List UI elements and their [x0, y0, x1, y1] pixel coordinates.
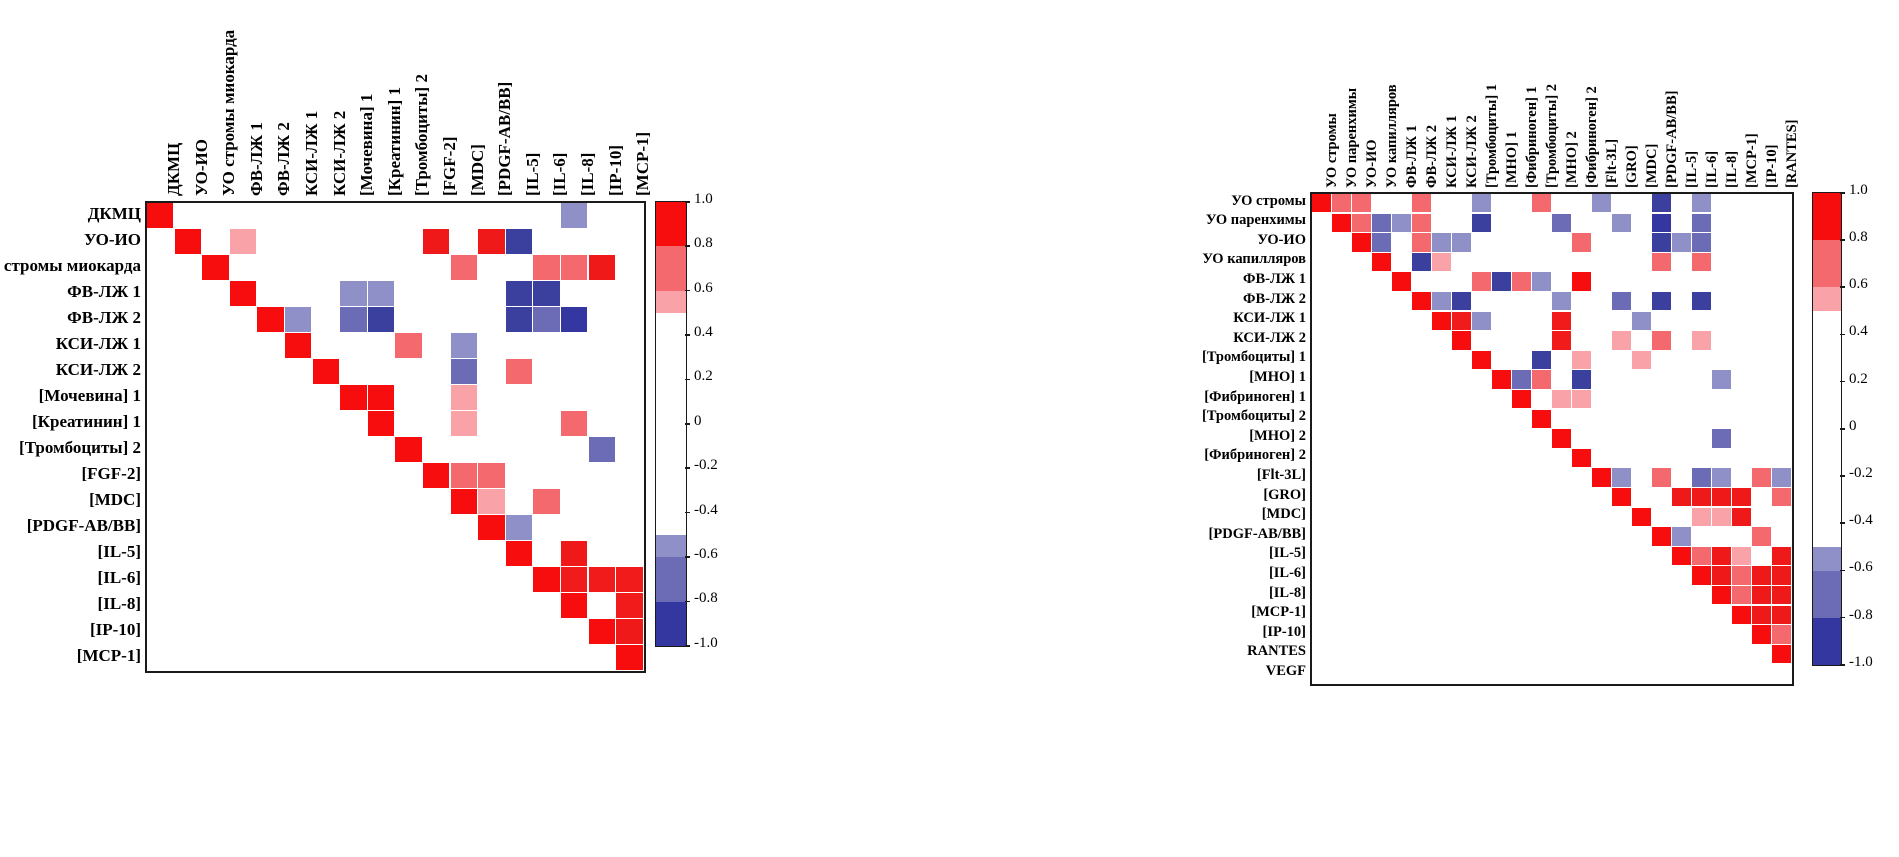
left-column-labels: ДКМЦУО-ИОУО стромы миокардаФВ-ЛЖ 1ФВ-ЛЖ … [145, 0, 642, 196]
heatmap-cell [1392, 272, 1411, 290]
column-label: [IL-8] [579, 0, 596, 196]
heatmap-cell [1412, 233, 1431, 251]
heatmap-cell [1692, 214, 1711, 232]
column-label: ФВ-ЛЖ 1 [1405, 0, 1420, 188]
heatmap-cell [1692, 253, 1711, 271]
column-label: УО-ИО [193, 0, 210, 196]
column-label: [Тромбоциты] 1 [1485, 0, 1500, 188]
heatmap-cell [506, 229, 532, 254]
heatmap-cell [451, 385, 477, 410]
heatmap-cell [1732, 488, 1751, 506]
heatmap-cell [478, 489, 504, 514]
heatmap-cell [285, 333, 311, 358]
colorbar-tick-mark [685, 290, 690, 292]
colorbar-tick-mark [1840, 570, 1845, 572]
heatmap-cell [1672, 527, 1691, 545]
heatmap-cell [1552, 429, 1571, 447]
column-label: ФВ-ЛЖ 2 [1425, 0, 1440, 188]
colorbar-tick-mark [685, 334, 690, 336]
heatmap-cell [616, 567, 642, 592]
heatmap-cell [1432, 312, 1451, 330]
heatmap-cell [561, 411, 587, 436]
heatmap-cell [1492, 272, 1511, 290]
row-label: [Фибриноген] 2 [886, 448, 1306, 463]
heatmap-cell [1712, 508, 1731, 526]
column-label: [GRO] [1625, 0, 1640, 188]
column-label: [IL-6] [551, 0, 568, 196]
heatmap-cell [1372, 253, 1391, 271]
heatmap-cell [423, 229, 449, 254]
heatmap-cell [1432, 253, 1451, 271]
heatmap-cell [1392, 214, 1411, 232]
heatmap-cell [478, 515, 504, 540]
heatmap-cell [1552, 292, 1571, 310]
heatmap-cell [285, 307, 311, 332]
heatmap-cell [1632, 312, 1651, 330]
heatmap-cell [1532, 410, 1551, 428]
colorbar-tick-label: -0.4 [1849, 513, 1873, 528]
heatmap-cell [1472, 272, 1491, 290]
column-label: [Фибриноген] 1 [1525, 0, 1540, 188]
heatmap-cell [1652, 194, 1671, 212]
heatmap-cell [1372, 233, 1391, 251]
heatmap-cell [616, 593, 642, 618]
heatmap-cell [1512, 272, 1531, 290]
colorbar-tick-mark [685, 379, 690, 381]
heatmap-cell [616, 645, 642, 670]
column-label: ФВ-ЛЖ 2 [275, 0, 292, 196]
heatmap-cell [506, 541, 532, 566]
colorbar-tick-mark [1840, 617, 1845, 619]
colorbar-tick-label: 0.4 [694, 325, 713, 340]
heatmap-cell [1432, 292, 1451, 310]
heatmap-cell [1692, 194, 1711, 212]
row-label: [MDC] [886, 507, 1306, 522]
colorbar-segment [656, 535, 686, 557]
heatmap-cell [1532, 351, 1551, 369]
right-colorbar [1812, 192, 1842, 666]
heatmap-cell [257, 307, 283, 332]
heatmap-cell [1692, 566, 1711, 584]
heatmap-cell [368, 411, 394, 436]
right-column-labels: УО стромыУО паренхимыУО-ИОУО капилляровФ… [1310, 0, 1790, 188]
heatmap-cell [1752, 566, 1771, 584]
heatmap-cell [1692, 331, 1711, 349]
colorbar-segment [656, 291, 686, 313]
heatmap-cell [561, 255, 587, 280]
heatmap-cell [1652, 468, 1671, 486]
heatmap-cell [1372, 214, 1391, 232]
colorbar-tick-mark [1840, 239, 1845, 241]
heatmap-cell [589, 437, 615, 462]
heatmap-cell [1452, 233, 1471, 251]
heatmap-cell [1692, 508, 1711, 526]
column-label: [MDC] [469, 0, 486, 196]
heatmap-cell [1712, 488, 1731, 506]
heatmap-cell [1552, 214, 1571, 232]
row-label: [MCP-1] [886, 605, 1306, 620]
row-label: [Тромбоциты] 2 [886, 409, 1306, 424]
colorbar-tick-mark [685, 512, 690, 514]
row-label: [IL-8] [0, 595, 141, 612]
row-label: УО-ИО [0, 231, 141, 248]
row-label: [МНО] 2 [886, 429, 1306, 444]
column-label: КСИ-ЛЖ 1 [1445, 0, 1460, 188]
column-label: УО паренхимы [1345, 0, 1360, 188]
heatmap-cell [340, 307, 366, 332]
column-label: [PDGF-AB/BB] [1665, 0, 1680, 188]
column-label: ДКМЦ [165, 0, 182, 196]
column-label: [MCP-1] [1745, 0, 1760, 188]
colorbar-tick-mark [685, 601, 690, 603]
colorbar-tick-label: 1.0 [1849, 183, 1868, 198]
row-label: [IP-10] [886, 625, 1306, 640]
row-label: [PDGF-AB/BB] [886, 527, 1306, 542]
heatmap-cell [1432, 233, 1451, 251]
row-label: [MCP-1] [0, 647, 141, 664]
heatmap-cell [1412, 194, 1431, 212]
left-heatmap-panel: ДКМЦУО-ИОУО стромы миокардаФВ-ЛЖ 1ФВ-ЛЖ … [0, 0, 930, 857]
colorbar-tick-label: -0.8 [694, 591, 718, 606]
heatmap-cell [451, 411, 477, 436]
colorbar-tick-mark [685, 201, 690, 203]
heatmap-cell [561, 203, 587, 228]
column-label: [МНО] 1 [1505, 0, 1520, 188]
column-label: КСИ-ЛЖ 1 [303, 0, 320, 196]
column-label: УО стромы миокарда [220, 0, 237, 196]
colorbar-segment [1813, 311, 1841, 547]
heatmap-cell [1712, 547, 1731, 565]
heatmap-cell [423, 463, 449, 488]
row-label: [IL-5] [886, 546, 1306, 561]
heatmap-cell [561, 541, 587, 566]
colorbar-segment [1813, 571, 1841, 618]
colorbar-tick-label: 0.8 [694, 236, 713, 251]
heatmap-cell [147, 203, 173, 228]
row-label: ФВ-ЛЖ 2 [0, 309, 141, 326]
colorbar-segment [656, 246, 686, 290]
heatmap-cell [1352, 194, 1371, 212]
colorbar-segment [656, 202, 686, 246]
heatmap-cell [1652, 292, 1671, 310]
heatmap-cell [1332, 194, 1351, 212]
heatmap-cell [1672, 488, 1691, 506]
colorbar-segment [1813, 193, 1841, 240]
heatmap-cell [533, 489, 559, 514]
heatmap-cell [451, 333, 477, 358]
column-label: [RANTES] [1785, 0, 1800, 188]
heatmap-cell [1772, 625, 1791, 643]
heatmap-cell [1732, 566, 1751, 584]
heatmap-cell [1652, 527, 1671, 545]
column-label: [IL-5] [1685, 0, 1700, 188]
heatmap-cell [1612, 292, 1631, 310]
heatmap-cell [616, 619, 642, 644]
heatmap-cell [561, 593, 587, 618]
heatmap-cell [589, 619, 615, 644]
row-label: ФВ-ЛЖ 2 [886, 292, 1306, 307]
heatmap-cell [368, 281, 394, 306]
heatmap-cell [1452, 312, 1471, 330]
heatmap-cell [1772, 468, 1791, 486]
heatmap-cell [533, 281, 559, 306]
heatmap-cell [1752, 606, 1771, 624]
heatmap-cell [1512, 370, 1531, 388]
correlation-heatmap-figure: ДКМЦУО-ИОУО стромы миокардаФВ-ЛЖ 1ФВ-ЛЖ … [0, 0, 1899, 857]
colorbar-tick-label: 1.0 [694, 192, 713, 207]
heatmap-cell [1532, 370, 1551, 388]
row-label: УО паренхимы [886, 213, 1306, 228]
heatmap-cell [313, 359, 339, 384]
colorbar-tick-label: 0 [1849, 419, 1857, 434]
heatmap-cell [533, 567, 559, 592]
heatmap-cell [1732, 508, 1751, 526]
column-label: [MDC] [1645, 0, 1660, 188]
heatmap-cell [1692, 468, 1711, 486]
column-label: [Тромбоциты] 2 [413, 0, 430, 196]
heatmap-cell [1752, 468, 1771, 486]
row-label: [IL-5] [0, 543, 141, 560]
heatmap-cell [1632, 508, 1651, 526]
row-label: [FGF-2] [0, 465, 141, 482]
colorbar-tick-mark [1840, 286, 1845, 288]
heatmap-cell [1532, 194, 1551, 212]
heatmap-cell [1772, 547, 1791, 565]
row-label: RANTES [886, 644, 1306, 659]
heatmap-cell [1612, 468, 1631, 486]
row-label: [GRO] [886, 488, 1306, 503]
column-label: КСИ-ЛЖ 2 [331, 0, 348, 196]
colorbar-tick-mark [685, 467, 690, 469]
row-label: VEGF [886, 664, 1306, 679]
heatmap-cell [230, 229, 256, 254]
heatmap-cell [1712, 586, 1731, 604]
colorbar-segment [1813, 618, 1841, 665]
colorbar-tick-mark [1840, 475, 1845, 477]
colorbar-segment [656, 602, 686, 646]
colorbar-tick-mark [685, 645, 690, 647]
heatmap-cell [1652, 331, 1671, 349]
column-label: УО стромы [1325, 0, 1340, 188]
heatmap-cell [451, 255, 477, 280]
heatmap-cell [1572, 351, 1591, 369]
heatmap-cell [506, 281, 532, 306]
heatmap-cell [1532, 272, 1551, 290]
colorbar-tick-mark [685, 245, 690, 247]
heatmap-cell [1412, 292, 1431, 310]
heatmap-cell [395, 333, 421, 358]
heatmap-cell [1752, 625, 1771, 643]
heatmap-cell [1612, 488, 1631, 506]
row-label: КСИ-ЛЖ 1 [886, 311, 1306, 326]
heatmap-cell [1732, 547, 1751, 565]
column-label: [Flt-3L] [1605, 0, 1620, 188]
heatmap-cell [1712, 370, 1731, 388]
column-label: [IL-8] [1725, 0, 1740, 188]
heatmap-cell [1452, 331, 1471, 349]
row-label: [Тромбоциты] 1 [886, 350, 1306, 365]
colorbar-tick-label: 0.6 [1849, 277, 1868, 292]
heatmap-cell [1512, 390, 1531, 408]
row-label: УО-ИО [886, 233, 1306, 248]
heatmap-cell [451, 359, 477, 384]
heatmap-cell [1652, 253, 1671, 271]
column-label: УО капилляров [1385, 0, 1400, 188]
row-label: [Тромбоциты] 2 [0, 439, 141, 456]
heatmap-cell [1572, 370, 1591, 388]
row-label: [IP-10] [0, 621, 141, 638]
colorbar-segment [1813, 287, 1841, 311]
heatmap-cell [1352, 233, 1371, 251]
left-colorbar [655, 201, 687, 647]
heatmap-cell [1772, 606, 1791, 624]
heatmap-cell [340, 281, 366, 306]
heatmap-cell [1572, 390, 1591, 408]
row-label: [Фибриноген] 1 [886, 390, 1306, 405]
row-label: [IL-6] [886, 566, 1306, 581]
heatmap-cell [451, 463, 477, 488]
heatmap-cell [202, 255, 228, 280]
heatmap-cell [1752, 586, 1771, 604]
heatmap-cell [561, 567, 587, 592]
colorbar-tick-label: 0.8 [1849, 230, 1868, 245]
heatmap-cell [1712, 468, 1731, 486]
colorbar-tick-label: 0.2 [694, 369, 713, 384]
heatmap-cell [506, 515, 532, 540]
heatmap-cell [1472, 351, 1491, 369]
heatmap-cell [1312, 194, 1331, 212]
heatmap-cell [1412, 214, 1431, 232]
heatmap-cell [1472, 312, 1491, 330]
heatmap-cell [1672, 233, 1691, 251]
heatmap-cell [1592, 468, 1611, 486]
row-label: ФВ-ЛЖ 1 [886, 272, 1306, 287]
colorbar-tick-mark [1840, 381, 1845, 383]
heatmap-cell [368, 385, 394, 410]
column-label: [IL-5] [524, 0, 541, 196]
column-label: [IP-10] [607, 0, 624, 196]
heatmap-cell [340, 385, 366, 410]
heatmap-cell [1692, 233, 1711, 251]
row-label: [Мочевина] 1 [0, 387, 141, 404]
heatmap-cell [175, 229, 201, 254]
colorbar-segment [656, 557, 686, 601]
column-label: [Тромбоциты] 2 [1545, 0, 1560, 188]
heatmap-cell [1692, 292, 1711, 310]
heatmap-cell [1692, 488, 1711, 506]
colorbar-tick-mark [685, 556, 690, 558]
heatmap-cell [533, 255, 559, 280]
row-label: [IL-8] [886, 586, 1306, 601]
column-label: [Фибриноген] 2 [1585, 0, 1600, 188]
right-matrix-grid [1310, 192, 1794, 686]
colorbar-tick-label: -0.6 [694, 547, 718, 562]
heatmap-cell [451, 489, 477, 514]
row-label: УО стромы [886, 194, 1306, 209]
colorbar-tick-label: -0.4 [694, 503, 718, 518]
column-label: ФВ-ЛЖ 1 [248, 0, 265, 196]
heatmap-cell [395, 437, 421, 462]
row-label: ДКМЦ [0, 205, 141, 222]
column-label: [Креатинин] 1 [386, 0, 403, 196]
heatmap-cell [589, 255, 615, 280]
colorbar-tick-label: 0.4 [1849, 324, 1868, 339]
heatmap-cell [1612, 214, 1631, 232]
column-label: УО-ИО [1365, 0, 1380, 188]
heatmap-cell [1772, 586, 1791, 604]
colorbar-tick-label: -1.0 [1849, 655, 1873, 670]
heatmap-cell [478, 463, 504, 488]
colorbar-tick-label: -0.2 [1849, 466, 1873, 481]
column-label: [IP-10] [1765, 0, 1780, 188]
colorbar-segment [1813, 240, 1841, 287]
colorbar-tick-mark [1840, 192, 1845, 194]
heatmap-cell [1772, 645, 1791, 663]
heatmap-cell [1552, 390, 1571, 408]
heatmap-cell [1552, 331, 1571, 349]
column-label: [IL-6] [1705, 0, 1720, 188]
heatmap-cell [1472, 194, 1491, 212]
heatmap-cell [1572, 272, 1591, 290]
colorbar-tick-mark [1840, 522, 1845, 524]
column-label: [PDGF-AB/BB] [496, 0, 513, 196]
colorbar-segment [656, 313, 686, 535]
colorbar-tick-label: -0.2 [694, 458, 718, 473]
heatmap-cell [1592, 194, 1611, 212]
row-label: КСИ-ЛЖ 2 [886, 331, 1306, 346]
row-label: КСИ-ЛЖ 2 [0, 361, 141, 378]
heatmap-cell [1332, 214, 1351, 232]
column-label: [МНО] 2 [1565, 0, 1580, 188]
row-label: [Flt-3L] [886, 468, 1306, 483]
heatmap-cell [1732, 606, 1751, 624]
heatmap-cell [1692, 547, 1711, 565]
heatmap-cell [478, 229, 504, 254]
colorbar-tick-label: -1.0 [694, 636, 718, 651]
heatmap-cell [1672, 547, 1691, 565]
column-label: [FGF-2] [441, 0, 458, 196]
heatmap-cell [1652, 233, 1671, 251]
row-label: [IL-6] [0, 569, 141, 586]
heatmap-cell [1572, 449, 1591, 467]
heatmap-cell [1632, 351, 1651, 369]
heatmap-cell [1772, 566, 1791, 584]
right-heatmap-panel: УО стромыУО паренхимыУО-ИОУО капилляровФ… [930, 0, 1899, 857]
row-label: [Креатинин] 1 [0, 413, 141, 430]
colorbar-tick-mark [685, 423, 690, 425]
heatmap-cell [506, 359, 532, 384]
heatmap-cell [1492, 370, 1511, 388]
heatmap-cell [1412, 253, 1431, 271]
heatmap-cell [1612, 331, 1631, 349]
row-label: [МНО] 1 [886, 370, 1306, 385]
heatmap-cell [1352, 214, 1371, 232]
colorbar-tick-mark [1840, 664, 1845, 666]
heatmap-cell [506, 307, 532, 332]
heatmap-cell [1772, 488, 1791, 506]
row-label: УО капилляров [886, 252, 1306, 267]
column-label: КСИ-ЛЖ 2 [1465, 0, 1480, 188]
heatmap-cell [1472, 214, 1491, 232]
heatmap-cell [1752, 527, 1771, 545]
colorbar-tick-mark [1840, 334, 1845, 336]
heatmap-cell [1552, 312, 1571, 330]
heatmap-cell [561, 307, 587, 332]
colorbar-tick-label: 0.6 [694, 281, 713, 296]
colorbar-tick-mark [1840, 428, 1845, 430]
heatmap-cell [1732, 586, 1751, 604]
colorbar-tick-label: 0.2 [1849, 372, 1868, 387]
